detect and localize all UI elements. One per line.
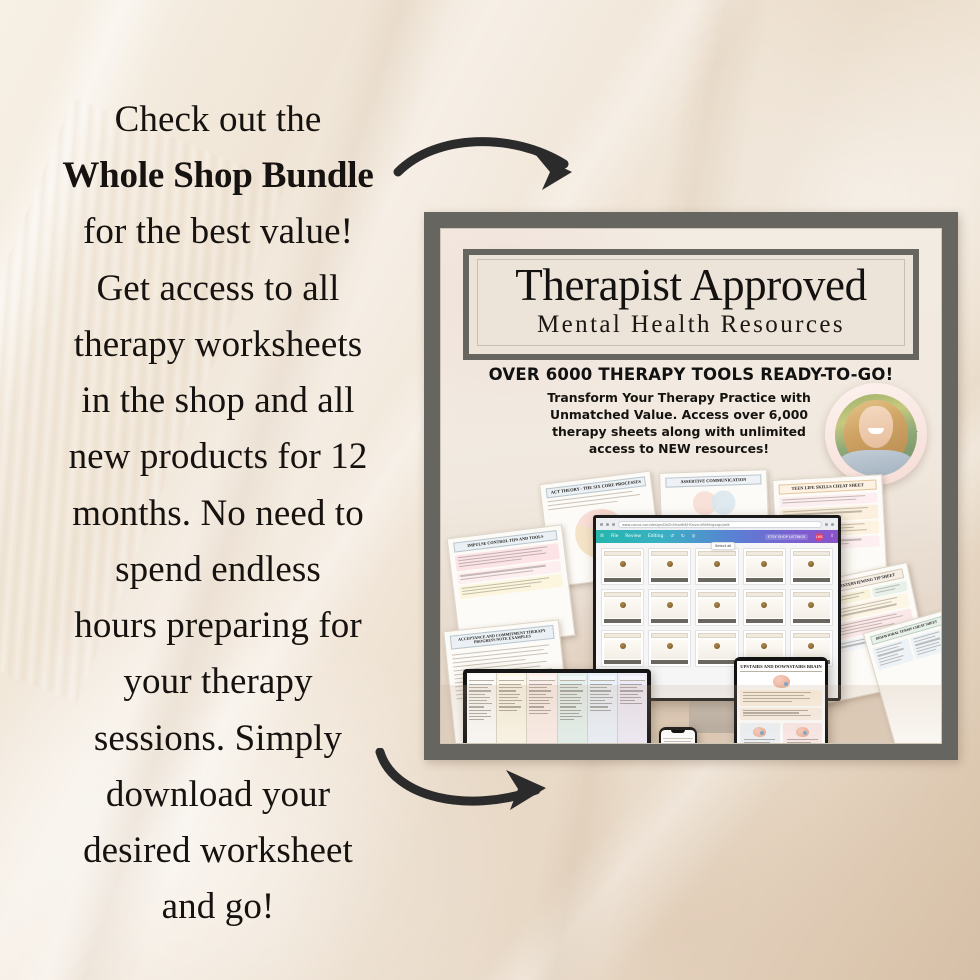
product-title-sub: Mental Health Resources [484,310,898,340]
creator-avatar [835,394,917,476]
redo-icon[interactable]: ↻ [681,534,685,539]
promo-line: months. No need to [22,486,414,542]
promo-line: Check out the [22,92,414,148]
product-collage: ACT THEORY - THE SIX CORE PROCESSES ASSE… [441,473,941,743]
select-all-chip[interactable]: Select all [711,542,735,550]
creator-badge: Created by a Licensed Clinical Social Wo… [825,383,927,485]
listing-thumbnail[interactable] [601,630,644,667]
promo-line: your therapy [22,654,414,710]
worksheet-title: ASSERTIVE COMMUNICATION [665,474,761,487]
phone-notch [671,730,685,733]
listing-thumbnail[interactable] [648,589,691,626]
undo-icon[interactable]: ↺ [670,534,674,539]
promo-line: Get access to all [22,261,414,317]
listing-thumbnail[interactable] [648,548,691,585]
promo-line: spend endless [22,542,414,598]
star-icon[interactable] [825,523,828,526]
reload-icon[interactable] [612,523,615,526]
listing-thumbnail[interactable] [790,589,833,626]
listing-thumbnail[interactable] [695,630,738,667]
forward-icon[interactable] [606,523,609,526]
promo-line: new products for 12 [22,429,414,485]
share-icon[interactable]: ⇧ [830,534,834,539]
avatar[interactable]: LMS [815,533,823,541]
product-blurb: Transform Your Therapy Practice with Unm… [529,389,829,457]
tablet-worksheet-title: UPSTAIRS AND DOWNSTAIRS BRAIN [740,664,822,672]
promo-copy: Check out the Whole Shop Bundle for the … [22,92,414,936]
menu-review[interactable]: Review [625,534,641,539]
menu-file[interactable]: File [611,534,618,539]
listing-thumbnail[interactable] [743,548,786,585]
listing-thumbnail[interactable] [601,548,644,585]
shelf-shadow [441,685,941,743]
comment-icon[interactable]: ◎ [692,534,696,539]
menu-icon[interactable] [831,523,834,526]
listing-thumbnail[interactable] [695,589,738,626]
promo-line-bundle: Whole Shop Bundle [22,148,414,204]
promo-line: download your [22,767,414,823]
promo-line: and go! [22,879,414,935]
promo-line: in the shop and all [22,373,414,429]
back-icon[interactable] [600,523,603,526]
listing-thumbnail[interactable] [648,630,691,667]
promo-line: desired worksheet [22,823,414,879]
listing-thumbnail[interactable] [790,548,833,585]
menu-editing[interactable]: Editing [648,534,663,539]
product-title-box: Therapist Approved Mental Health Resourc… [463,249,919,360]
promo-line: hours preparing for [22,598,414,654]
promo-line: for the best value! [22,204,414,260]
shop-listings-button[interactable]: ETSY SHOP LISTINGS [765,534,809,540]
product-kicker: OVER 6000 THERAPY TOOLS READY-TO-GO! [441,365,941,384]
browser-urlbar[interactable]: www.canva.com/design/DAGh5rtor6M/HOovcuf… [596,518,838,530]
promo-line: therapy worksheets [22,317,414,373]
listing-thumbnail[interactable] [743,589,786,626]
product-card-inner: Therapist Approved Mental Health Resourc… [440,228,942,744]
address-input[interactable]: www.canva.com/design/DAGh5rtor6M/HOovcuf… [618,521,822,528]
listing-thumbnail[interactable] [601,589,644,626]
hamburger-icon[interactable]: ☰ [600,534,604,539]
product-image-card[interactable]: Therapist Approved Mental Health Resourc… [424,212,958,760]
listing-thumbnail[interactable] [695,548,738,585]
promo-line: sessions. Simply [22,711,414,767]
product-title-main: Therapist Approved [484,262,898,309]
